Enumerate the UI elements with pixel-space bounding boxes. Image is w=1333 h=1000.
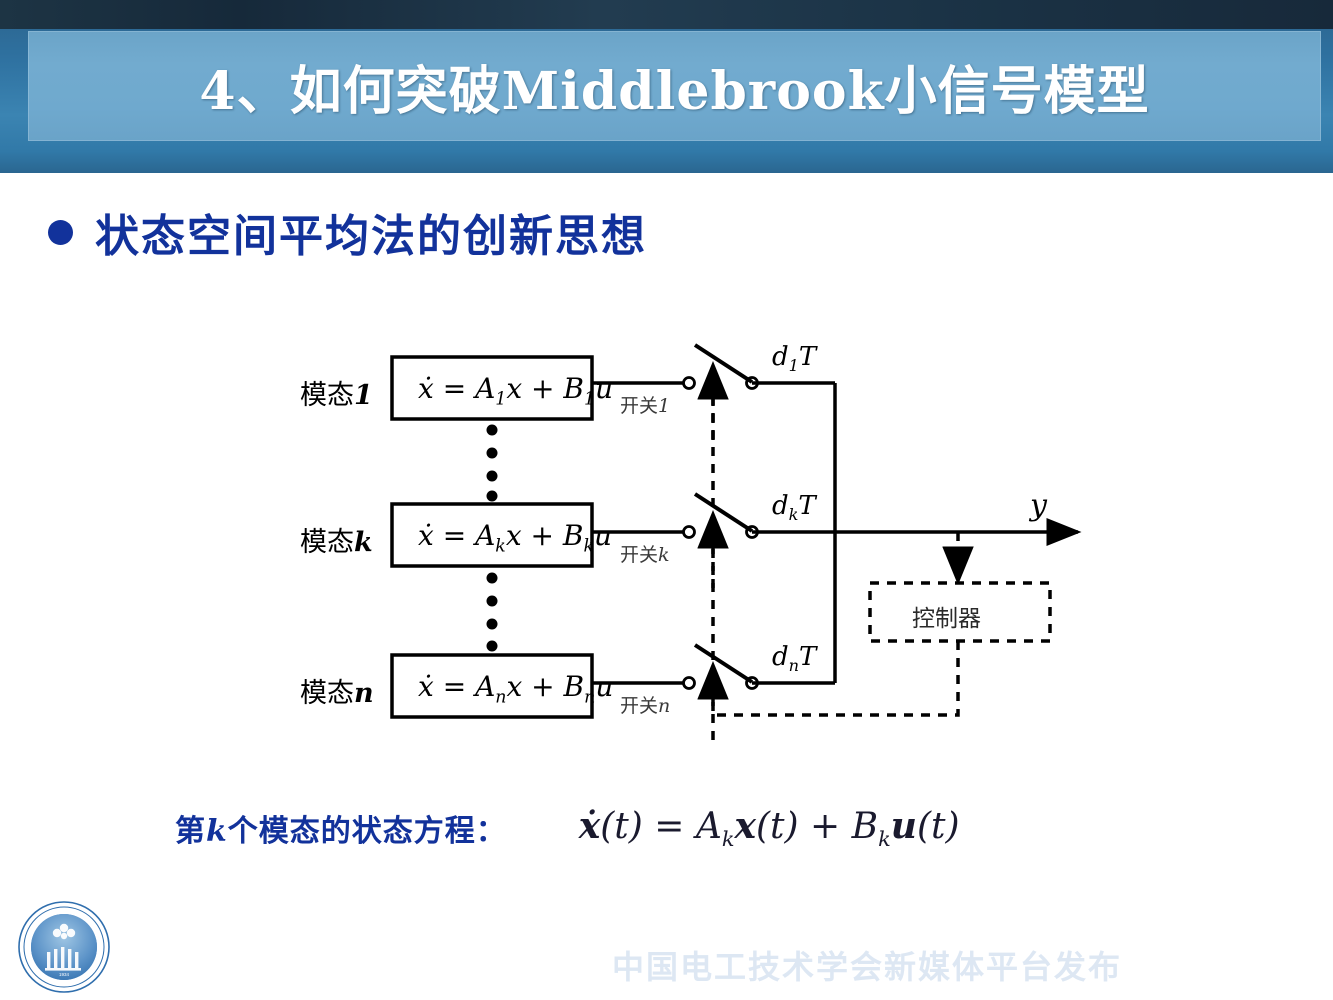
bullet-text: 状态空间平均法的创新思想 — [95, 200, 647, 264]
switch-1-blade — [695, 345, 752, 382]
bullet-dot-icon — [48, 220, 73, 245]
slide-root: 4、如何突破Middlebrook小信号模型 状态空间平均法的创新思想 — [0, 0, 1333, 1000]
bottom-caption: 第k个模态的状态方程： — [175, 806, 507, 850]
slide-title: 4、如何突破Middlebrook小信号模型 — [28, 31, 1321, 141]
switch-n-left-terminal — [684, 678, 695, 689]
switch-n-blade — [695, 645, 752, 682]
header-dark-strip — [0, 0, 1333, 30]
controller-label: 控制器 — [912, 599, 981, 633]
mode-label-n: 模态n — [300, 671, 374, 710]
mode-label-k: 模态k — [300, 520, 373, 559]
switch-label-k: 开关k — [620, 540, 670, 567]
state-space-averaging-diagram: 模态1 模态k 模态n ẋ = A1x + B1u ẋ = Akx + Bku … — [0, 320, 1333, 770]
bottom-equation-row: 第k个模态的状态方程： ẋ(t) = Akx(t) + Bku(t) — [175, 805, 960, 851]
bullet-row: 状态空间平均法的创新思想 — [48, 200, 647, 264]
switch-label-1: 开关1 — [620, 391, 670, 418]
university-seal-icon: 1934 — [17, 900, 111, 994]
slide-header: 4、如何突破Middlebrook小信号模型 — [0, 0, 1333, 173]
university-logo: 1934 — [17, 900, 111, 994]
mode-equation-k: ẋ = Akx + Bku — [418, 519, 612, 557]
switch-1-left-terminal — [684, 378, 695, 389]
output-label-y: y — [1030, 488, 1047, 523]
ellipsis-dots-lower — [487, 573, 498, 652]
watermark-text: 中国电工技术学会新媒体平台发布 — [612, 942, 1122, 988]
mode-equation-n: ẋ = Anx + Bnu — [418, 670, 613, 708]
bottom-state-equation: ẋ(t) = Akx(t) + Bku(t) — [579, 805, 960, 851]
duty-label-1: d1T — [772, 342, 816, 375]
mode-equation-1: ẋ = A1x + B1u — [418, 372, 613, 410]
logo-year: 1934 — [59, 972, 70, 977]
ellipsis-dots-upper — [487, 425, 498, 502]
duty-label-k: dkT — [772, 491, 816, 524]
mode-label-1: 模态1 — [300, 373, 373, 412]
switch-k-blade — [695, 494, 752, 531]
switch-label-n: 开关n — [620, 691, 670, 718]
switch-k-left-terminal — [684, 527, 695, 538]
duty-label-n: dnT — [772, 642, 816, 675]
